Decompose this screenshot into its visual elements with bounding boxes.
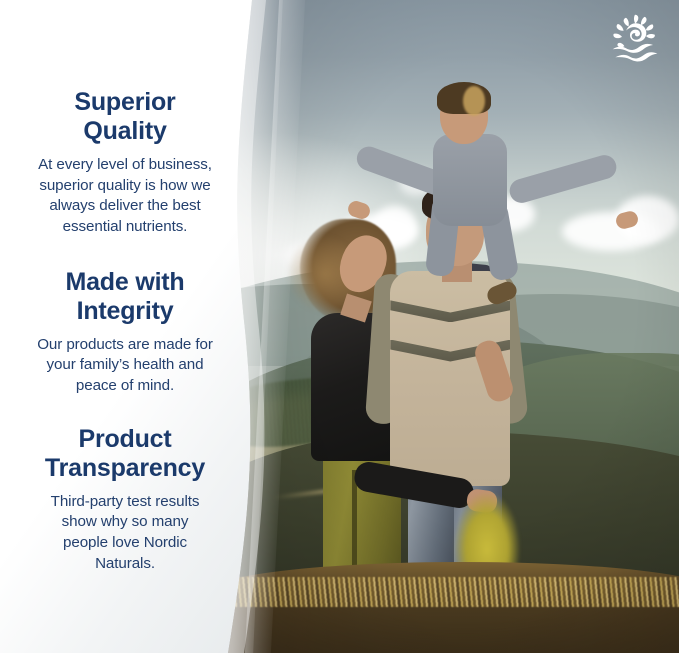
value-prop-heading: Product Transparency [14,425,236,483]
value-prop-body: Third-party test results show why so man… [14,492,236,575]
child-jacket [433,134,507,226]
value-props: Superior Quality At every level of busin… [0,0,250,653]
brand-banner: Superior Quality At every level of busin… [0,0,679,653]
child-hand-right [614,210,639,231]
dry-grass [228,577,679,607]
value-prop-product-transparency: Product Transparency Third-party test re… [0,425,250,575]
value-prop-superior-quality: Superior Quality At every level of busin… [0,88,250,238]
child-hair-highlight [463,86,485,116]
nordic-naturals-logo [607,12,665,64]
value-prop-heading: Superior Quality [14,88,236,146]
value-prop-heading: Made with Integrity [14,268,236,326]
child-arm-right [506,152,618,205]
value-prop-body: At every level of business, superior qua… [14,155,236,238]
hero-photo [228,0,679,653]
value-prop-body: Our products are made for your family’s … [14,335,236,397]
value-prop-made-with-integrity: Made with Integrity Our products are mad… [0,268,250,397]
